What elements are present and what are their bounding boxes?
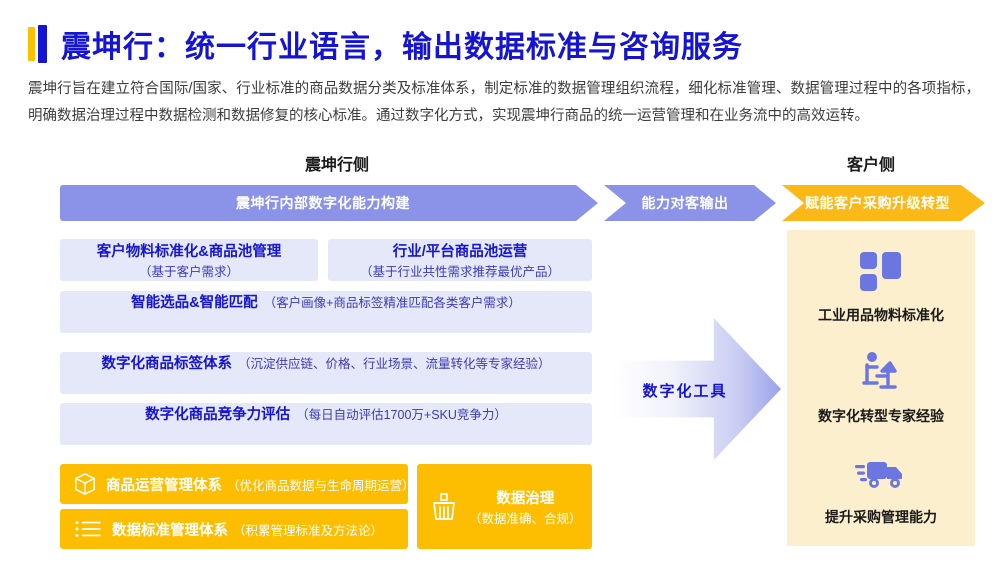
- foundation-sub-label: （积累管理标准及方法论）: [233, 520, 383, 539]
- page-description: 震坤行旨在建立符合国际/国家、行业标准的商品数据分类及标准体系，制定标准的数据管…: [28, 76, 980, 130]
- foundation-sub-label: （数据准确、合规）: [469, 508, 582, 527]
- capability-box-platform-pool-operation[interactable]: 行业/平台商品池运营 （基于行业共性需求推荐最优产品）: [328, 239, 592, 281]
- client-outcome-label: 提升采购管理能力: [825, 507, 937, 527]
- grid-blocks-icon: [858, 247, 904, 297]
- delivery-truck-icon: [855, 449, 907, 499]
- side-label-client: 客户侧: [847, 151, 895, 175]
- capability-main-label: 数字化商品标签体系: [101, 352, 232, 373]
- foundation-main-label: 数据治理: [496, 487, 554, 508]
- capability-sub-label: （每日自动评估1700万+SKU竞争力）: [296, 404, 507, 423]
- page-title-row: 震坤行：统一行业语言，输出数据标准与咨询服务: [28, 22, 743, 66]
- capability-sub-label: （基于行业共性需求推荐最优产品）: [360, 261, 560, 280]
- capability-sub-label: （沉淀供应链、价格、行业场景、流量转化等专家经验）: [238, 353, 551, 372]
- foundation-box-data-governance[interactable]: 数据治理 （数据准确、合规）: [417, 464, 592, 549]
- client-outcome-material-standardization[interactable]: 工业用品物料标准化: [787, 247, 975, 325]
- capability-box-smart-selection[interactable]: 智能选品&智能匹配 （客户画像+商品标签精准匹配各类客户需求）: [60, 291, 592, 333]
- capability-box-competitiveness-evaluation[interactable]: 数字化商品竞争力评估 （每日自动评估1700万+SKU竞争力）: [60, 403, 592, 445]
- chevron-internal-capability[interactable]: 震坤行内部数字化能力构建: [60, 185, 598, 221]
- accent-bar-blue-icon: [38, 25, 47, 63]
- list-icon: [74, 518, 102, 540]
- chevron-label: 赋能客户采购升级转型: [805, 193, 950, 213]
- chevron-label: 震坤行内部数字化能力构建: [236, 193, 410, 213]
- capability-main-label: 智能选品&智能匹配: [131, 291, 257, 312]
- broom-icon: [429, 491, 459, 523]
- capability-box-digital-tag-system[interactable]: 数字化商品标签体系 （沉淀供应链、价格、行业场景、流量转化等专家经验）: [60, 352, 592, 394]
- side-label-vendor: 震坤行侧: [305, 151, 369, 175]
- foundation-box-product-operation[interactable]: 商品运营管理体系 （优化商品数据与生命周期运营）: [60, 464, 408, 504]
- capability-box-material-standardization[interactable]: 客户物料标准化&商品池管理 （基于客户需求）: [60, 239, 318, 281]
- client-outcome-expert-experience[interactable]: 数字化转型专家经验: [787, 348, 975, 426]
- page-title: 震坤行：统一行业语言，输出数据标准与咨询服务: [61, 22, 743, 66]
- client-outcome-procurement-capability[interactable]: 提升采购管理能力: [787, 449, 975, 527]
- cube-icon: [74, 472, 96, 496]
- accent-bar-yellow-icon: [28, 27, 35, 61]
- capability-sub-label: （基于客户需求）: [139, 261, 239, 280]
- foundation-main-label: 商品运营管理体系: [106, 474, 222, 495]
- person-at-desk-icon: [857, 348, 905, 398]
- capability-main-label: 行业/平台商品池运营: [393, 240, 528, 261]
- digital-tools-label: 数字化工具: [620, 380, 750, 401]
- capability-sub-label: （客户画像+商品标签精准匹配各类客户需求）: [264, 292, 521, 311]
- capability-main-label: 客户物料标准化&商品池管理: [97, 240, 281, 261]
- foundation-sub-label: （优化商品数据与生命周期运营）: [227, 475, 415, 494]
- client-outcomes-panel: 工业用品物料标准化 数字化转型专家经验: [787, 230, 975, 546]
- foundation-box-data-standard[interactable]: 数据标准管理体系 （积累管理标准及方法论）: [60, 509, 408, 549]
- chevron-capability-output[interactable]: 能力对客输出: [604, 185, 776, 221]
- foundation-text-stack: 数据治理 （数据准确、合规）: [469, 487, 582, 527]
- chevron-client-upgrade[interactable]: 赋能客户采购升级转型: [782, 185, 985, 221]
- foundation-main-label: 数据标准管理体系: [112, 519, 228, 540]
- chevron-label: 能力对客输出: [642, 193, 729, 213]
- capability-main-label: 数字化商品竞争力评估: [145, 403, 290, 424]
- client-outcome-label: 数字化转型专家经验: [818, 406, 944, 426]
- client-outcome-label: 工业用品物料标准化: [818, 305, 944, 325]
